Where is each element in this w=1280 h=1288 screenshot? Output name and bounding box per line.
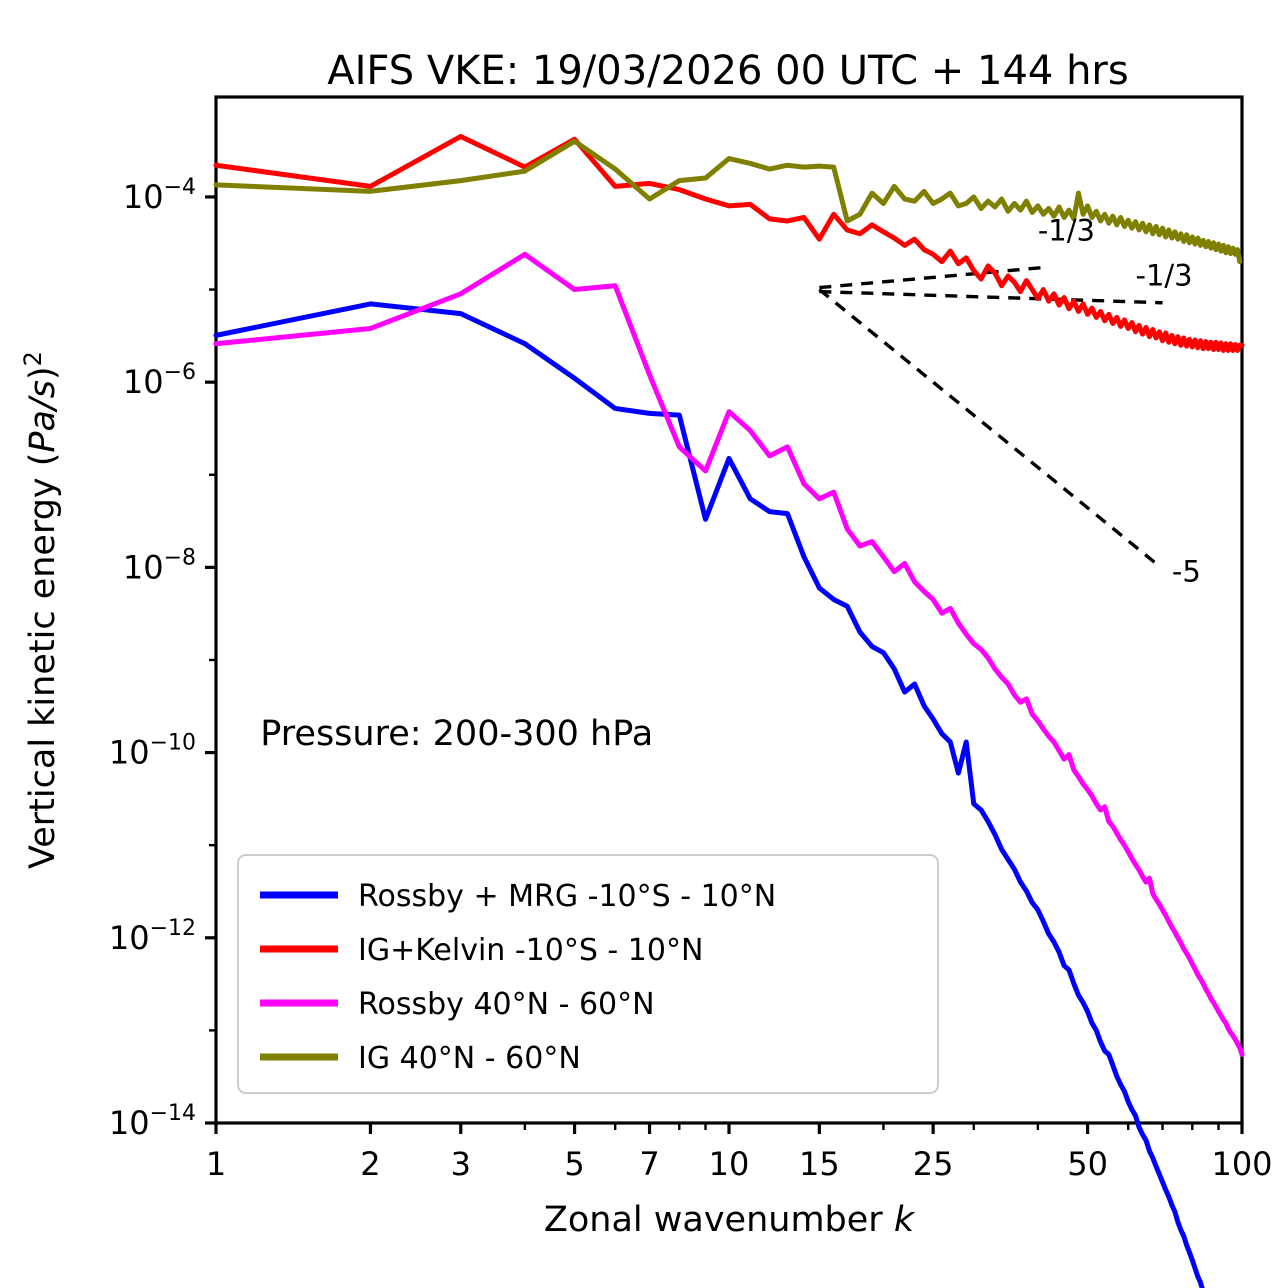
chart-title: AIFS VKE: 19/03/2026 00 UTC + 144 hrs bbox=[327, 48, 1128, 94]
x-tick-label: 10 bbox=[709, 1145, 750, 1183]
legend-label-0[interactable]: Rossby + MRG -10°S - 10°N bbox=[358, 879, 776, 914]
legend-label-2[interactable]: Rossby 40°N - 60°N bbox=[358, 987, 655, 1022]
x-tick-label: 50 bbox=[1067, 1145, 1108, 1183]
figure-canvas: AIFS VKE: 19/03/2026 00 UTC + 144 hrs 12… bbox=[0, 0, 1280, 1288]
x-tick-label: 1 bbox=[206, 1145, 226, 1183]
x-tick-label: 15 bbox=[799, 1145, 840, 1183]
pressure-annotation: Pressure: 200-300 hPa bbox=[260, 714, 653, 754]
chart-legend[interactable]: Rossby + MRG -10°S - 10°NIG+Kelvin -10°S… bbox=[238, 855, 938, 1093]
x-tick-label: 2 bbox=[360, 1145, 380, 1183]
x-tick-label: 5 bbox=[564, 1145, 584, 1183]
chart-svg: AIFS VKE: 19/03/2026 00 UTC + 144 hrs 12… bbox=[0, 0, 1280, 1288]
slope-label-upper: -1/3 bbox=[1038, 213, 1095, 247]
x-tick-label: 7 bbox=[639, 1145, 659, 1183]
legend-label-1[interactable]: IG+Kelvin -10°S - 10°N bbox=[358, 933, 703, 968]
x-axis-label: Zonal wavenumber k bbox=[544, 1200, 916, 1240]
slope-label-lower: -1/3 bbox=[1135, 259, 1192, 293]
y-axis-label: Vertical kinetic energy (Pa/s)2 bbox=[19, 351, 63, 869]
x-tick-label: 3 bbox=[451, 1145, 471, 1183]
x-tick-label: 25 bbox=[913, 1145, 954, 1183]
x-tick-label: 100 bbox=[1211, 1145, 1272, 1183]
legend-label-3[interactable]: IG 40°N - 60°N bbox=[358, 1041, 581, 1076]
slope-label-minus5: -5 bbox=[1172, 555, 1201, 589]
